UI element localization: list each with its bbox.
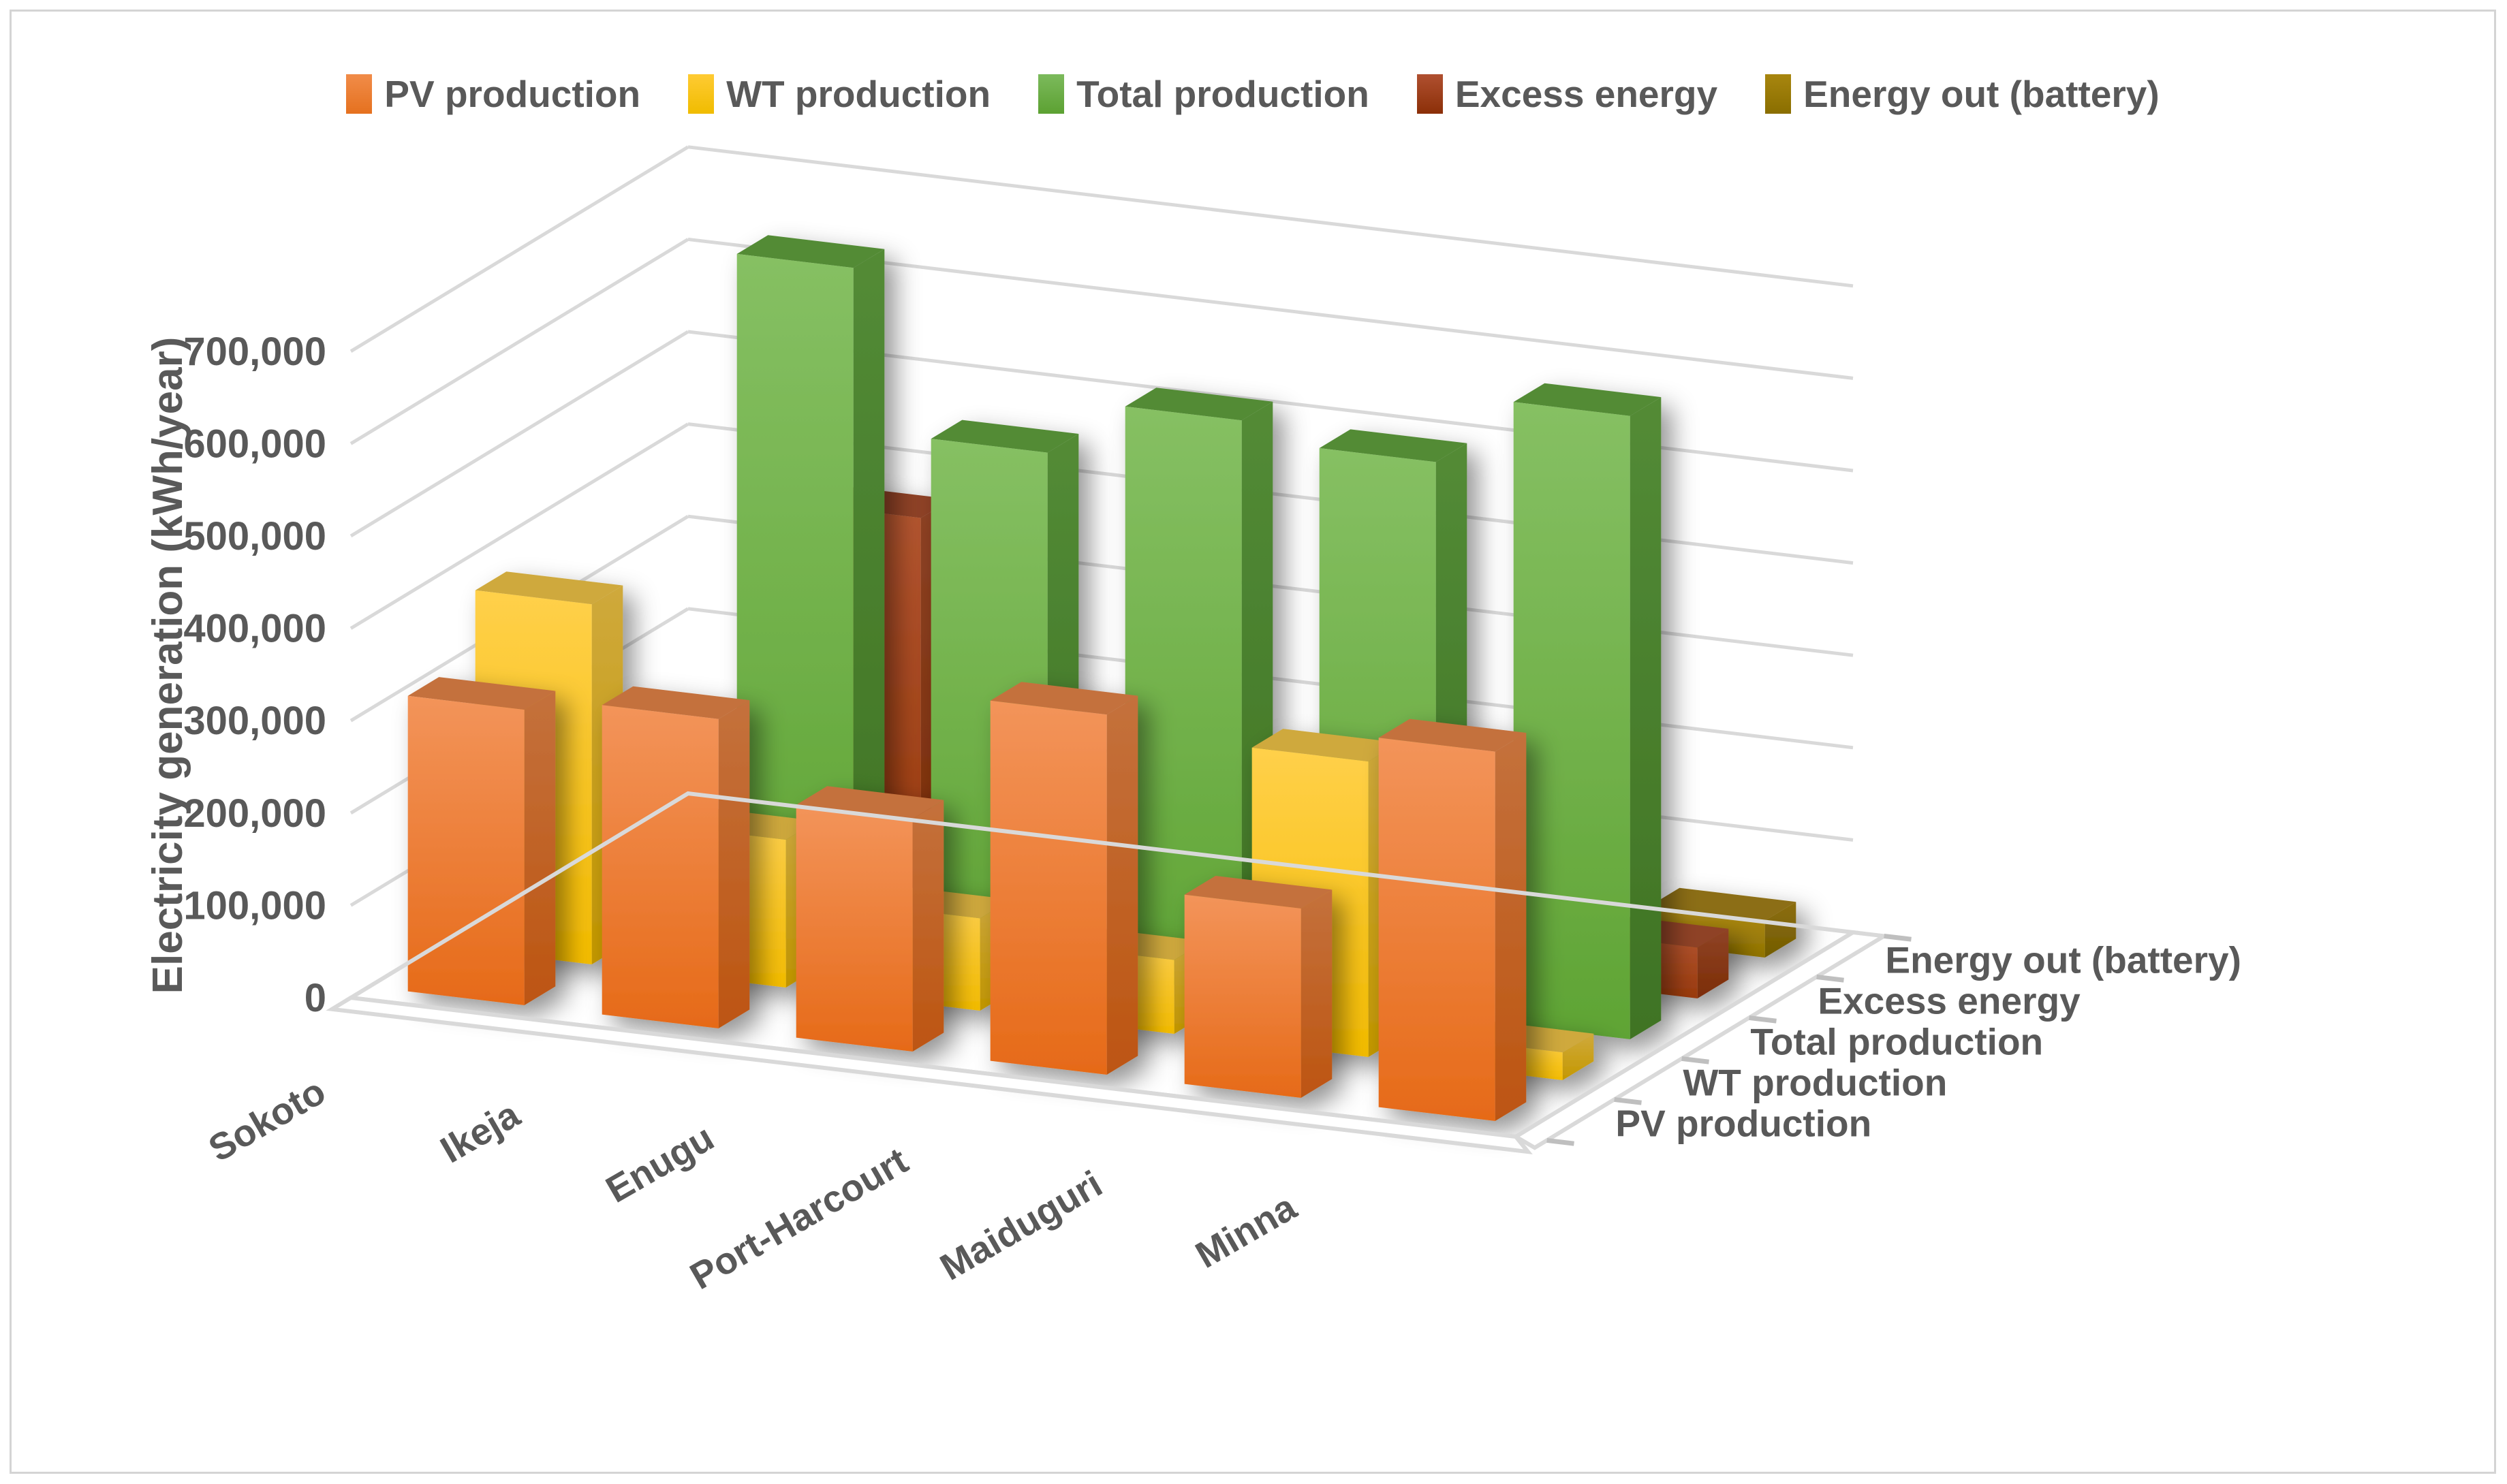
y-axis-title: Electricity generation (kWh/year) bbox=[144, 337, 191, 994]
y-tick-label: 200,000 bbox=[183, 791, 326, 836]
y-tick-label: 500,000 bbox=[183, 514, 326, 558]
y-tick-label: 100,000 bbox=[183, 883, 326, 928]
chart-frame: PV production WT production Total produc… bbox=[10, 10, 2496, 1474]
y-tick-label: 600,000 bbox=[183, 422, 326, 466]
bar-3d[interactable] bbox=[796, 786, 944, 1052]
x-category-label: Sokoto bbox=[202, 1070, 332, 1170]
y-tick-label: 300,000 bbox=[183, 699, 326, 743]
bar-3d[interactable] bbox=[1185, 876, 1333, 1098]
bar-3d[interactable] bbox=[602, 686, 750, 1028]
z-series-label: Energy out (battery) bbox=[1885, 939, 2241, 981]
chart-3d-canvas: 0100,000200,000300,000400,000500,000600,… bbox=[12, 12, 2498, 1476]
z-series-label: WT production bbox=[1683, 1062, 1947, 1104]
x-category-label: Minna bbox=[1188, 1185, 1303, 1276]
y-tick-label: 0 bbox=[305, 976, 326, 1020]
x-category-label: Enugu bbox=[599, 1116, 721, 1211]
bar-3d[interactable] bbox=[408, 677, 556, 1005]
x-category-label: Port-Harcourt bbox=[683, 1139, 915, 1297]
x-category-label: Maiduguri bbox=[933, 1163, 1109, 1289]
bar-3d[interactable] bbox=[1379, 719, 1527, 1121]
z-series-label: Excess energy bbox=[1818, 980, 2081, 1022]
x-category-label: Ikeja bbox=[433, 1092, 527, 1171]
bar-3d[interactable] bbox=[1514, 383, 1662, 1039]
bars-group bbox=[408, 235, 1796, 1121]
y-tick-label: 700,000 bbox=[183, 330, 326, 374]
y-tick-label: 400,000 bbox=[183, 607, 326, 651]
z-series-label: Total production bbox=[1750, 1021, 2043, 1063]
y-axis-tick-labels: 0100,000200,000300,000400,000500,000600,… bbox=[183, 330, 326, 1020]
bar-3d[interactable] bbox=[991, 682, 1138, 1075]
z-series-label: PV production bbox=[1615, 1103, 1871, 1145]
